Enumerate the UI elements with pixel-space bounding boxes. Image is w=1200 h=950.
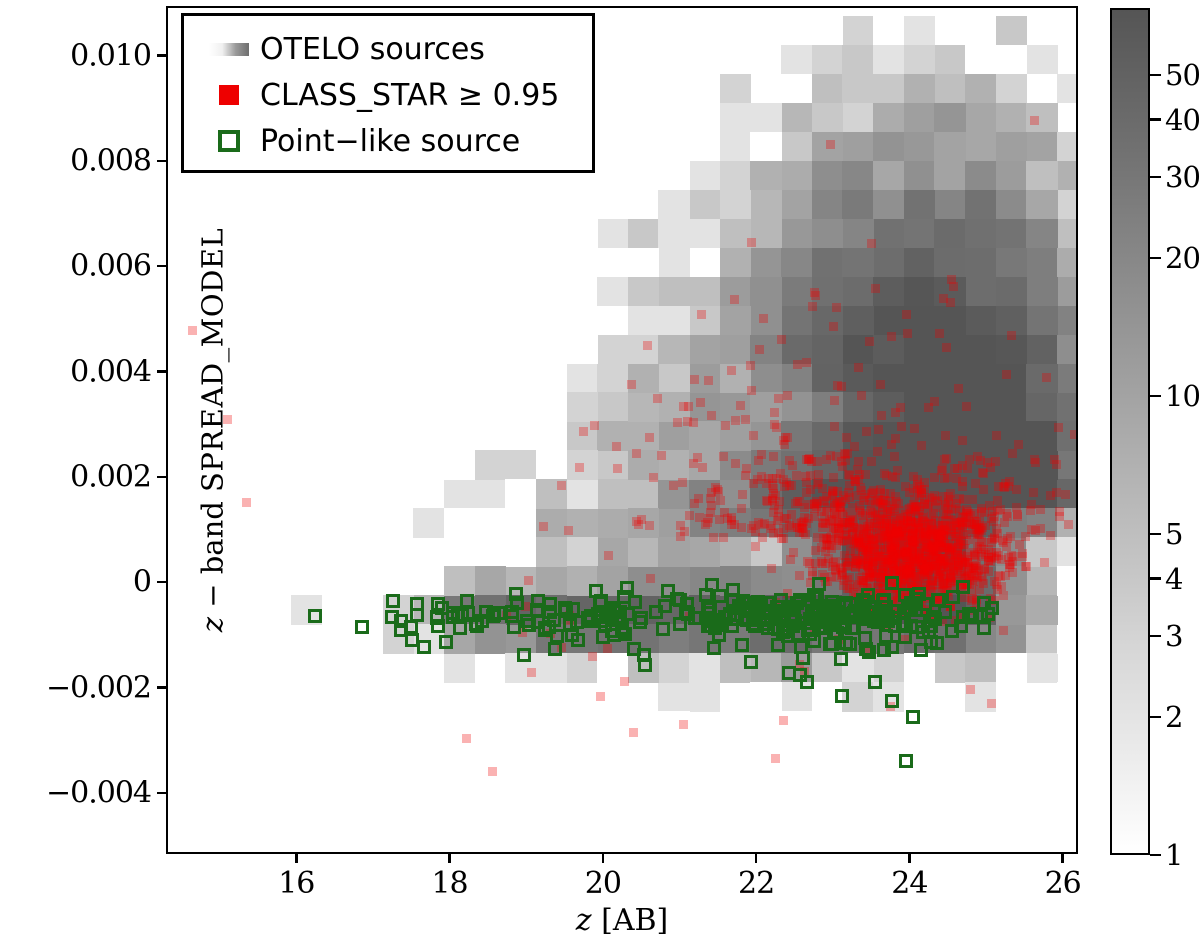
x-tick-label: 18 (431, 866, 467, 901)
point-like-source-marker (825, 637, 839, 651)
point-like-source-marker (885, 576, 899, 590)
point-like-source-marker (727, 612, 741, 626)
legend-item-class-star: CLASS_STAR ≥ 0.95 (198, 72, 578, 118)
point-like-source-marker (914, 643, 928, 657)
y-axis-label-variable: z (195, 617, 229, 632)
y-axis-label: z − band SPREAD_MODEL (195, 228, 229, 633)
point-like-source-marker (431, 619, 445, 633)
point-like-source-marker (726, 593, 740, 607)
y-tick-mark (157, 370, 166, 373)
point-like-source-marker (658, 599, 672, 613)
point-like-source-marker (673, 617, 687, 631)
y-tick-mark (157, 54, 166, 57)
point-like-source-marker (906, 710, 920, 724)
point-like-source-marker (790, 596, 804, 610)
point-like-source-marker (548, 642, 562, 656)
x-tick-mark (755, 854, 758, 863)
colorbar-tick-mark (1150, 533, 1161, 536)
point-like-source-marker (543, 597, 557, 611)
x-axis-label: z [AB] (576, 903, 668, 938)
point-like-source-marker (410, 608, 424, 622)
point-like-source-marker (768, 606, 782, 620)
colorbar-tick-label: 10 (1165, 379, 1200, 413)
point-like-source-marker (531, 615, 545, 629)
point-like-source-marker (909, 603, 923, 617)
x-tick-label: 26 (1045, 866, 1081, 901)
point-like-source-marker (956, 580, 970, 594)
colorbar-tick-mark (1150, 395, 1161, 398)
point-like-source-marker (885, 694, 899, 708)
colorbar-tick-mark (1150, 716, 1161, 719)
y-tick-mark (157, 160, 166, 163)
point-like-source-marker (965, 610, 979, 624)
colorbar-tick-label: 50 (1165, 58, 1200, 92)
point-like-source-marker (446, 610, 460, 624)
colorbar-tick-mark (1150, 118, 1161, 121)
point-like-source-marker (565, 628, 579, 642)
point-like-source-marker (566, 602, 580, 616)
colorbar-tick-mark (1150, 854, 1161, 857)
point-like-source-marker (475, 614, 489, 628)
point-like-source-marker (981, 607, 995, 621)
point-like-source-marker (835, 689, 849, 703)
point-like-source-marker (858, 611, 872, 625)
legend: OTELO sources CLASS_STAR ≥ 0.95 Point−li… (181, 13, 595, 173)
y-tick-label: −0.002 (46, 670, 151, 705)
colorbar-tick-mark (1150, 74, 1161, 77)
point-like-source-marker (794, 640, 808, 654)
y-axis-label-middle: − band (195, 492, 229, 617)
point-like-source-marker (593, 596, 607, 610)
colorbar-tick-label: 3 (1165, 619, 1182, 653)
point-like-source-marker (505, 609, 519, 623)
y-tick-label: 0.004 (70, 354, 151, 389)
point-like-source-marker (744, 655, 758, 669)
point-like-source-marker (621, 607, 635, 621)
point-like-source-marker (859, 642, 873, 656)
point-like-source-marker (602, 609, 616, 623)
legend-item-otelo-sources: OTELO sources (198, 26, 578, 72)
point-like-source-marker (771, 638, 785, 652)
point-like-source-marker (707, 641, 721, 655)
y-axis-label-keyword: SPREAD_MODEL (195, 228, 229, 492)
point-like-source-marker (782, 666, 796, 680)
y-tick-label: 0 (133, 565, 151, 600)
colorbar (1110, 8, 1150, 855)
point-like-source-marker (930, 636, 944, 650)
colorbar-tick-mark (1150, 176, 1161, 179)
point-like-source-marker (910, 620, 924, 634)
x-axis-label-variable: z (576, 903, 592, 938)
point-like-source-marker (492, 606, 506, 620)
x-tick-mark (448, 854, 451, 863)
x-tick-label: 20 (585, 866, 621, 901)
point-like-source-marker (751, 595, 765, 609)
point-like-source-marker (308, 609, 322, 623)
point-like-source-marker (834, 652, 848, 666)
y-tick-label: 0.010 (70, 38, 151, 73)
point-like-source-marker (656, 622, 670, 636)
point-like-source-marker (385, 610, 399, 624)
point-like-source-marker (680, 597, 694, 611)
point-like-source-marker (710, 616, 724, 630)
point-like-source-marker (868, 675, 882, 689)
point-like-source-marker (931, 593, 945, 607)
colorbar-tick-label: 5 (1165, 517, 1182, 551)
point-like-source-marker (386, 594, 400, 608)
point-like-source-marker (405, 633, 419, 647)
legend-label-otelo-sources: OTELO sources (260, 32, 485, 67)
legend-gradient-swatch-icon (198, 43, 260, 56)
y-tick-mark (157, 581, 166, 584)
point-like-source-marker (776, 625, 790, 639)
x-tick-mark (1061, 854, 1064, 863)
colorbar-tick-label: 20 (1165, 241, 1200, 275)
figure-scatter-spread-model: 161820222426 0.0100.0080.0060.0040.0020−… (0, 0, 1200, 950)
point-like-source-marker (627, 642, 641, 656)
y-tick-mark (157, 265, 166, 268)
colorbar-tick-mark (1150, 257, 1161, 260)
colorbar-tick-mark (1150, 577, 1161, 580)
point-like-source-marker (735, 638, 749, 652)
point-like-source-marker (620, 581, 634, 595)
point-like-source-marker (800, 675, 814, 689)
legend-red-square-icon (198, 85, 260, 105)
point-like-source-marker (661, 584, 675, 598)
point-like-source-marker (713, 589, 727, 603)
point-like-source-marker (439, 635, 453, 649)
legend-green-open-square-icon (198, 130, 260, 152)
colorbar-tick-mark (1150, 635, 1161, 638)
point-like-source-marker (899, 754, 913, 768)
colorbar-tick-label: 1 (1165, 838, 1182, 872)
point-like-source-marker (355, 620, 369, 634)
y-tick-label: 0.002 (70, 459, 151, 494)
point-like-source-marker (517, 648, 531, 662)
x-tick-label: 16 (278, 866, 314, 901)
y-tick-mark (157, 476, 166, 479)
point-like-source-marker (861, 588, 875, 602)
colorbar-tick-label: 4 (1165, 562, 1182, 596)
x-tick-mark (908, 854, 911, 863)
point-like-source-marker (638, 658, 652, 672)
colorbar-tick-label: 30 (1165, 160, 1200, 194)
point-like-source-marker (888, 619, 902, 633)
y-tick-mark (157, 686, 166, 689)
y-tick-label: −0.004 (46, 775, 151, 810)
point-like-source-marker (509, 587, 523, 601)
y-tick-label: 0.008 (70, 143, 151, 178)
point-like-source-marker (761, 621, 775, 635)
x-tick-mark (295, 854, 298, 863)
x-tick-label: 22 (738, 866, 774, 901)
point-like-source-marker (803, 616, 817, 630)
point-like-source-marker (824, 604, 838, 618)
x-tick-label: 24 (891, 866, 927, 901)
legend-label-class-star: CLASS_STAR ≥ 0.95 (260, 78, 559, 113)
legend-label-point-like: Point−like source (260, 124, 520, 159)
colorbar-tick-label: 40 (1165, 103, 1200, 137)
y-tick-label: 0.006 (70, 249, 151, 284)
colorbar-tick-label: 2 (1165, 700, 1182, 734)
y-tick-mark (157, 792, 166, 795)
x-axis-label-unit: [AB] (592, 903, 669, 938)
x-tick-mark (602, 854, 605, 863)
legend-item-point-like: Point−like source (198, 118, 578, 164)
point-like-source-marker (461, 606, 475, 620)
point-like-source-marker (873, 611, 887, 625)
